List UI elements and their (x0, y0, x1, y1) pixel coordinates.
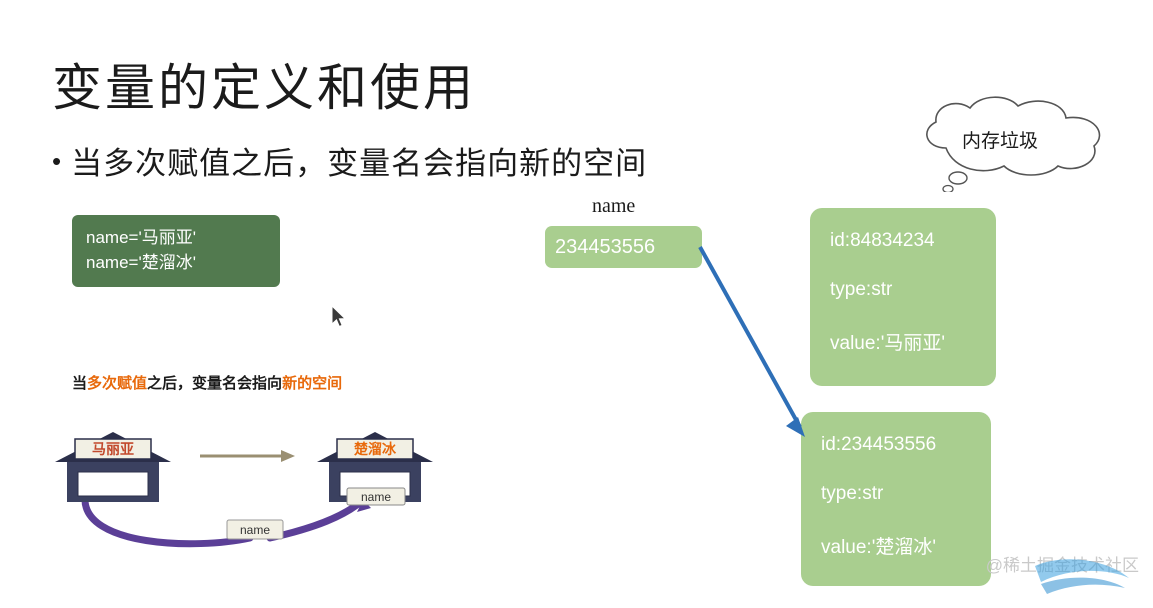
code-line-1: name='马丽亚' (86, 225, 280, 250)
caption-part-5: 新的空间 (282, 375, 342, 392)
mouse-cursor-icon (331, 305, 347, 329)
bullet-marker: • (52, 148, 61, 174)
variable-value-box: 234453556 (545, 226, 702, 268)
svg-text:name: name (361, 490, 391, 504)
code-line-2: name='楚溜冰' (86, 250, 280, 275)
caption-part-1: 当 (72, 375, 87, 392)
object-box-1: id:84834234 type:str value:'马丽亚' (810, 208, 996, 386)
object-1-value: value:'马丽亚' (830, 328, 996, 355)
slide-canvas: 变量的定义和使用 • 当多次赋值之后，变量名会指向新的空间 name='马丽亚'… (0, 0, 1153, 586)
code-snippet-box: name='马丽亚' name='楚溜冰' (72, 215, 280, 287)
houses-illustration: 马丽亚 楚溜冰 name name (45, 420, 445, 560)
object-1-id: id:84834234 (830, 230, 996, 252)
illustration-caption: 当多次赋值之后，变量名会指向新的空间 (72, 372, 342, 393)
object-2-type: type:str (821, 483, 991, 505)
house-right: 楚溜冰 name (317, 432, 433, 505)
cloud-label: 内存垃圾 (962, 126, 1038, 153)
object-box-2: id:234453556 type:str value:'楚溜冰' (801, 412, 991, 586)
svg-text:name: name (240, 523, 270, 537)
svg-text:马丽亚: 马丽亚 (92, 441, 134, 457)
caption-part-4: 变量名会指向 (192, 375, 282, 392)
object-1-type: type:str (830, 279, 996, 301)
svg-text:楚溜冰: 楚溜冰 (353, 441, 397, 457)
caption-part-2: 多次赋值 (87, 375, 147, 392)
page-title: 变量的定义和使用 (52, 48, 476, 120)
variable-name-label: name (592, 195, 635, 218)
object-2-value: value:'楚溜冰' (821, 532, 991, 559)
house-left: 马丽亚 (55, 432, 171, 502)
object-2-id: id:234453556 (821, 434, 991, 456)
bullet-row: • 当多次赋值之后，变量名会指向新的空间 (52, 138, 647, 183)
bullet-text: 当多次赋值之后，变量名会指向新的空间 (71, 138, 647, 183)
watermark-logo-icon (1025, 548, 1145, 608)
caption-part-3: 之后， (147, 375, 192, 392)
